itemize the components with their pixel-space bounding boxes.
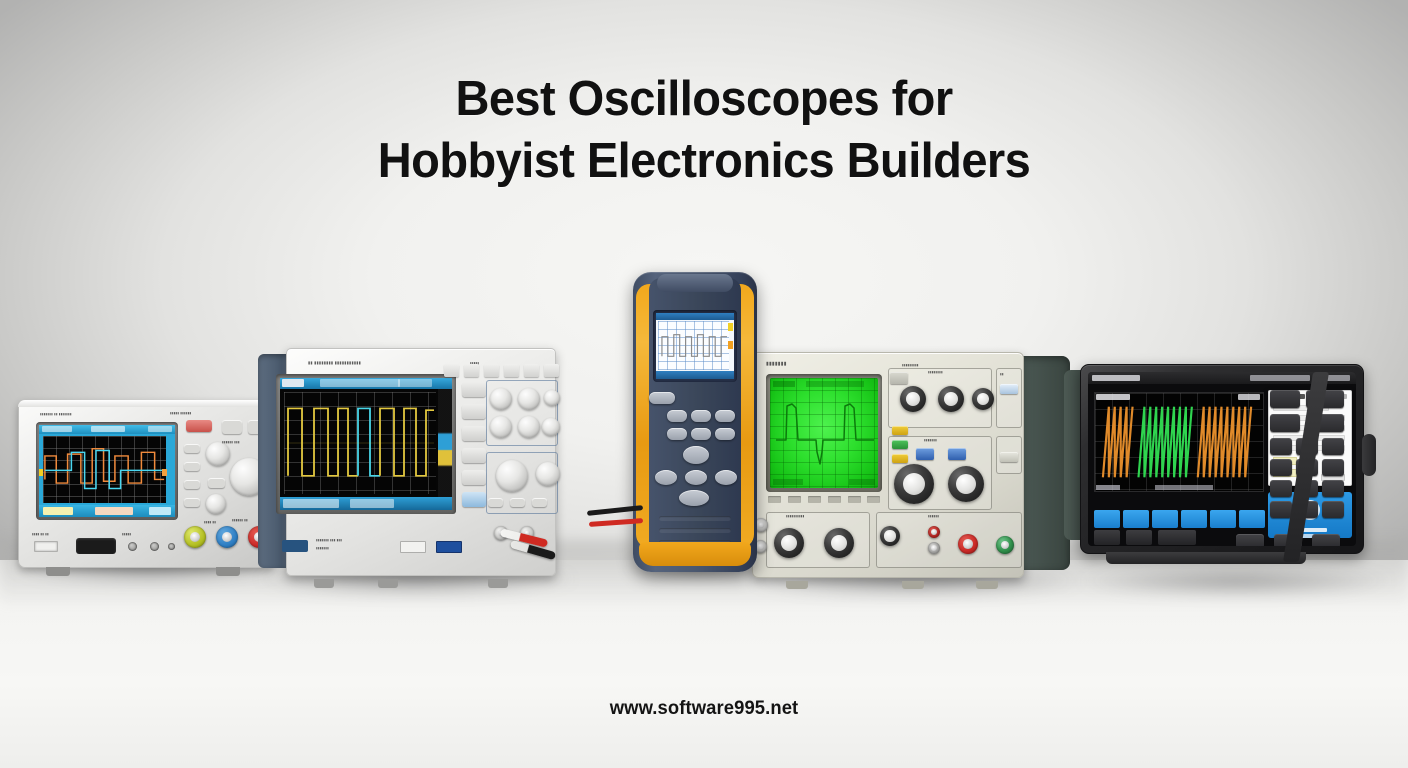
dso-status-chip-3 — [148, 426, 172, 432]
bench-dso-bottom-strip: ▮▮▮▮▮▮▮ ▮▮▮ ▮▮▮ ▮▮▮▮▮▮▮ — [280, 530, 480, 562]
dso-menu-button-5[interactable] — [208, 478, 225, 488]
dso-foot-left — [46, 567, 70, 576]
analog-scope-crt-screen — [770, 378, 878, 488]
bench-dso-trigger-level-knob[interactable] — [544, 390, 560, 406]
bench-dso-run-button[interactable] — [532, 498, 547, 507]
analog-scope-trim-1 — [768, 496, 781, 503]
bench-dso-ch2-pos-knob[interactable] — [518, 416, 540, 438]
tablet-scope-key-4[interactable] — [1270, 459, 1292, 476]
bench-dso-series-text: ▮▮▮▮▮▮▮ ▮▮▮ ▮▮▮ — [316, 538, 386, 542]
bench-dso-softkey-5[interactable] — [462, 470, 486, 485]
dso-screen-bezel — [36, 422, 178, 520]
dso-ch2-marker — [162, 469, 167, 476]
tablet-scope-bottom-btn-1[interactable] — [1236, 534, 1264, 546]
bench-dso-logo-badge — [282, 540, 308, 552]
tablet-scope-key-0[interactable] — [1270, 501, 1292, 518]
handheld-screen-frame — [653, 310, 737, 382]
dso-brand-text: ▮▮▮▮▮▮▮ ▮▮ ▮▮▮▮▮▮▮ — [40, 412, 160, 416]
dso-measure-badge-3 — [149, 507, 171, 515]
bench-dso-status-2 — [320, 379, 400, 387]
analog-scope-banana-red-1[interactable] — [928, 526, 940, 538]
analog-scope-brand-text: ▮▮▮▮▮▮▮ — [766, 361, 836, 367]
bench-dso-control-panel — [488, 382, 558, 532]
device-tablet-scope[interactable] — [1080, 364, 1380, 584]
tablet-scope-key-6[interactable] — [1322, 459, 1344, 476]
dso-menu-button-3[interactable] — [184, 480, 200, 489]
dso-jack-label: ▮▮▮▮▮ — [122, 532, 152, 536]
handheld-waveform-traces — [658, 321, 729, 370]
dso-port-row: ▮▮▮▮ ▮▮ ▮▮ ▮▮▮▮▮ — [30, 530, 180, 558]
analog-scope-trim-3 — [808, 496, 821, 503]
bench-dso-measure-1 — [283, 499, 339, 508]
dso-measure-badge-2 — [95, 507, 133, 515]
analog-scope-volts-div-knob[interactable] — [900, 386, 926, 412]
dso-menu-button-4[interactable] — [184, 498, 200, 507]
bench-dso-waveform-grid — [284, 392, 436, 494]
analog-scope-foot-mid — [902, 581, 924, 589]
dso-waveform-traces — [43, 436, 166, 503]
dso-screen[interactable] — [39, 425, 175, 517]
analog-scope-trim-6 — [867, 496, 880, 503]
bench-dso-top-btn-1[interactable] — [444, 364, 459, 377]
analog-scope-crt-label-1 — [773, 381, 795, 387]
dso-vertical-knob[interactable] — [206, 442, 230, 466]
analog-scope-power-button[interactable] — [1000, 384, 1018, 394]
tablet-scope-hinge — [1362, 434, 1376, 476]
device-bench-dso[interactable]: ▮▮ ▮▮▮▮▮▮▮▮ ▮▮▮▮▮▮▮▮▮▮▮ ▮▮▮▮▮ — [258, 348, 556, 580]
analog-scope-blue-button-1[interactable] — [916, 448, 934, 460]
bench-dso-softkey-6[interactable] — [462, 492, 486, 507]
bench-dso-softkey-1[interactable] — [462, 382, 486, 397]
analog-scope-crt-label-4 — [849, 479, 875, 485]
analog-scope-mode-button[interactable] — [890, 372, 908, 384]
analog-scope-yellow-button-2[interactable] — [892, 454, 908, 463]
bench-dso-softkey-3[interactable] — [462, 426, 486, 441]
handheld-fn-key-6[interactable] — [715, 428, 735, 440]
page-title: Best Oscilloscopes for Hobbyist Electron… — [28, 68, 1380, 192]
analog-scope-intensity-knob[interactable] — [880, 526, 900, 546]
bench-dso-screen-sidebar — [438, 389, 452, 497]
tablet-scope-key-1[interactable] — [1270, 438, 1292, 455]
dso-bnc-ch1[interactable] — [184, 526, 206, 548]
handheld-fn-key-4[interactable] — [667, 428, 687, 440]
handheld-marker-1 — [728, 323, 733, 331]
analog-scope-foot-left — [786, 581, 808, 589]
bench-dso-single-button[interactable] — [510, 498, 525, 507]
tablet-scope-toolbar-btn-1[interactable] — [1094, 510, 1120, 528]
bench-dso-status-1 — [282, 379, 304, 387]
title-line-2: Hobbyist Electronics Builders — [28, 130, 1380, 192]
bench-dso-measure-2 — [350, 499, 394, 508]
dso-model-text: ▮▮▮▮▮ ▮▮▮▮▮▮ — [170, 411, 240, 415]
bench-dso-ch2-volts-knob[interactable] — [518, 388, 540, 410]
bench-dso-waveform-traces — [284, 392, 436, 494]
device-handheld-scopemeter[interactable] — [633, 272, 757, 572]
handheld-enter-key[interactable] — [683, 446, 709, 464]
dso-ch1-marker — [39, 469, 43, 476]
tablet-scope-pane-footer-1 — [1096, 485, 1120, 490]
handheld-power-key[interactable] — [649, 392, 675, 404]
dso-run-stop-button[interactable] — [186, 420, 212, 432]
dso-usb-label: ▮▮▮▮ ▮▮ ▮▮ — [32, 532, 72, 536]
handheld-left-key[interactable] — [655, 470, 677, 485]
analog-scope-crt-trim-row — [768, 496, 880, 506]
bench-dso-status-3 — [398, 379, 432, 387]
analog-scope-trim-4 — [828, 496, 841, 503]
device-analog-crt-scope[interactable]: ▮▮▮▮▮▮▮ ▮▮▮▮▮▮▮▮▮ ▮▮▮▮▮▮ — [752, 352, 1070, 582]
tablet-scope-key-auto[interactable] — [1270, 414, 1300, 432]
analog-scope-ch2-position-knob[interactable] — [824, 528, 854, 558]
analog-scope-sweep-button[interactable] — [1000, 452, 1018, 462]
tablet-scope-lower-btn-2[interactable] — [1126, 530, 1152, 545]
tablet-scope-lower-btn-3[interactable] — [1158, 530, 1196, 545]
handheld-screen[interactable] — [656, 313, 734, 379]
dso-waveform-grid — [43, 436, 166, 503]
dso-jack-3[interactable] — [168, 543, 175, 550]
analog-scope-variable-knob[interactable] — [972, 388, 994, 410]
handheld-waveform-grid — [658, 321, 729, 370]
tablet-scope-pane-label — [1096, 394, 1130, 400]
bench-dso-ch1-volts-knob[interactable] — [490, 388, 512, 410]
bench-dso-ch1-pos-knob[interactable] — [490, 416, 512, 438]
tablet-scope-base-bar — [1106, 552, 1306, 564]
analog-scope-banana-black[interactable] — [928, 542, 940, 554]
handheld-fn-key-1[interactable] — [667, 410, 687, 422]
tablet-scope-toolbar-btn-3[interactable] — [1152, 510, 1178, 528]
tablet-scope-toolbar-btn-6[interactable] — [1239, 510, 1265, 528]
handheld-grip-ridge-2 — [659, 528, 731, 533]
analog-scope-position-label: ▮▮▮▮▮▮▮▮▮▮ — [786, 514, 844, 518]
tablet-scope-pane-footer-2 — [1155, 485, 1213, 490]
analog-scope-ch1-position-knob[interactable] — [774, 528, 804, 558]
tablet-scope-lower-btn-1[interactable] — [1094, 530, 1120, 545]
analog-scope-yellow-button-1[interactable] — [892, 426, 908, 435]
analog-scope-banana-ground[interactable] — [996, 536, 1014, 554]
tablet-scope-bottom-btn-3[interactable] — [1312, 534, 1340, 546]
analog-scope-crt-label-2 — [806, 381, 864, 387]
bench-dso-brand-text: ▮▮ ▮▮▮▮▮▮▮▮ ▮▮▮▮▮▮▮▮▮▮▮ — [308, 360, 458, 365]
dso-jack-2[interactable] — [150, 542, 159, 551]
tablet-scope-key-enter[interactable] — [1322, 501, 1344, 518]
analog-scope-trim-5 — [848, 496, 861, 503]
analog-scope-banana-red-2[interactable] — [958, 534, 978, 554]
tablet-scope-key-7[interactable] — [1270, 480, 1292, 497]
bench-dso-usb-a-port[interactable] — [400, 541, 426, 553]
tablet-scope-title-text — [1092, 375, 1140, 381]
bench-dso-softkey-2[interactable] — [462, 404, 486, 419]
tablet-scope-toolbar-btn-2[interactable] — [1123, 510, 1149, 528]
analog-scope-vertical-label: ▮▮▮▮▮▮▮▮ — [928, 370, 978, 374]
tablet-scope-toolbar — [1094, 510, 1264, 528]
handheld-marker-2 — [728, 341, 733, 349]
analog-scope-trace — [770, 378, 878, 488]
site-url: www.software995.net — [21, 698, 1387, 720]
dso-status-chip-1 — [42, 426, 72, 432]
bench-dso-top-btn-6[interactable] — [544, 364, 559, 377]
bench-dso-horizontal-pos-knob[interactable] — [536, 462, 560, 486]
handheld-fn-key-5[interactable] — [691, 428, 711, 440]
title-line-1: Best Oscilloscopes for — [455, 72, 952, 126]
analog-scope-ch2-volts-knob[interactable] — [938, 386, 964, 412]
dso-jack-1[interactable] — [128, 542, 137, 551]
tablet-scope-toolbar-btn-5[interactable] — [1210, 510, 1236, 528]
dso-measure-badge-1 — [43, 507, 73, 515]
analog-scope-crt-bezel — [766, 374, 882, 492]
handheld-screen-topbar — [656, 313, 734, 320]
bench-dso-timebase-knob[interactable] — [496, 460, 528, 492]
tablet-scope-status-icons — [1250, 375, 1310, 381]
dso-menu-button-2[interactable] — [184, 462, 200, 471]
tablet-scope-waveform-traces — [1095, 393, 1263, 491]
bench-dso-usb-b-port[interactable] — [436, 541, 462, 553]
dso-bnc-ch2[interactable] — [216, 526, 238, 548]
analog-scope-foot-right — [976, 581, 998, 589]
tablet-scope-key-3[interactable] — [1322, 438, 1344, 455]
analog-scope-blue-button-2[interactable] — [948, 448, 966, 460]
bench-dso-autoset-button[interactable] — [488, 498, 503, 507]
dso-menu-button-1[interactable] — [184, 444, 200, 453]
dso-foot-right — [216, 567, 240, 576]
analog-scope-model-text: ▮▮▮▮▮▮▮▮▮ — [902, 363, 972, 367]
tablet-scope-key-9[interactable] — [1322, 480, 1344, 497]
dso-card-slot[interactable] — [76, 538, 116, 554]
analog-scope-timebase-knob[interactable] — [894, 464, 934, 504]
dso-status-chip-2 — [91, 426, 125, 432]
handheld-bottom-bumper — [639, 542, 751, 566]
bench-dso-top-button-row — [444, 364, 556, 378]
analog-scope-green-button[interactable] — [892, 440, 908, 449]
tablet-scope-pane-value — [1238, 394, 1260, 400]
handheld-fn-key-2[interactable] — [691, 410, 711, 422]
bench-dso-trigger-pos-knob[interactable] — [542, 418, 560, 436]
bench-dso-softkey-column — [462, 382, 486, 514]
handheld-grip-ridge-1 — [659, 516, 731, 521]
bench-dso-screen[interactable] — [280, 378, 452, 510]
handheld-keypad — [647, 392, 743, 502]
bench-dso-top-btn-2[interactable] — [464, 364, 479, 377]
bench-dso-foot-left — [314, 579, 334, 588]
dso-position-knob[interactable] — [206, 494, 226, 514]
analog-scope-connector-label: ▮▮▮▮▮▮ — [928, 514, 974, 518]
bench-dso-top-btn-5[interactable] — [524, 364, 539, 377]
bench-dso-top-btn-3[interactable] — [484, 364, 499, 377]
bench-dso-foot-mid — [378, 579, 398, 588]
bench-dso-top-btn-4[interactable] — [504, 364, 519, 377]
handheld-top-handle — [657, 274, 733, 292]
dso-top-strip — [18, 400, 276, 407]
analog-scope-crt-label-3 — [773, 479, 803, 485]
analog-scope-power-label: ▮▮ — [1000, 372, 1020, 376]
bench-dso-foot-right — [488, 579, 508, 588]
handheld-right-key[interactable] — [715, 470, 737, 485]
device-compact-dso[interactable]: ▮▮▮▮▮▮▮ ▮▮ ▮▮▮▮▮▮▮ ▮▮▮▮▮ ▮▮▮▮▮▮ — [18, 400, 276, 568]
analog-scope-trim-2 — [788, 496, 801, 503]
handheld-screen-bottombar — [656, 371, 734, 379]
tablet-scope-toolbar-btn-4[interactable] — [1181, 510, 1207, 528]
handheld-auto-key[interactable] — [679, 490, 709, 506]
bench-dso-softkey-4[interactable] — [462, 448, 486, 463]
analog-scope-trigger-knob[interactable] — [948, 466, 984, 502]
dso-usb-port[interactable] — [34, 541, 58, 552]
tablet-scope-waveform-pane[interactable] — [1094, 392, 1264, 492]
bench-dso-series-text-2: ▮▮▮▮▮▮▮ — [316, 546, 376, 550]
analog-scope-power-panel — [996, 368, 1022, 428]
handheld-fn-key-3[interactable] — [715, 410, 735, 422]
tablet-scope-key-run[interactable] — [1270, 390, 1300, 408]
bench-dso-screen-bezel — [276, 374, 456, 514]
dso-soft-button-a[interactable] — [222, 420, 242, 434]
scene-backdrop: Best Oscilloscopes for Hobbyist Electron… — [0, 0, 1408, 768]
handheld-select-key[interactable] — [685, 470, 707, 485]
analog-scope-timebase-label: ▮▮▮▮▮▮▮ — [924, 438, 972, 442]
